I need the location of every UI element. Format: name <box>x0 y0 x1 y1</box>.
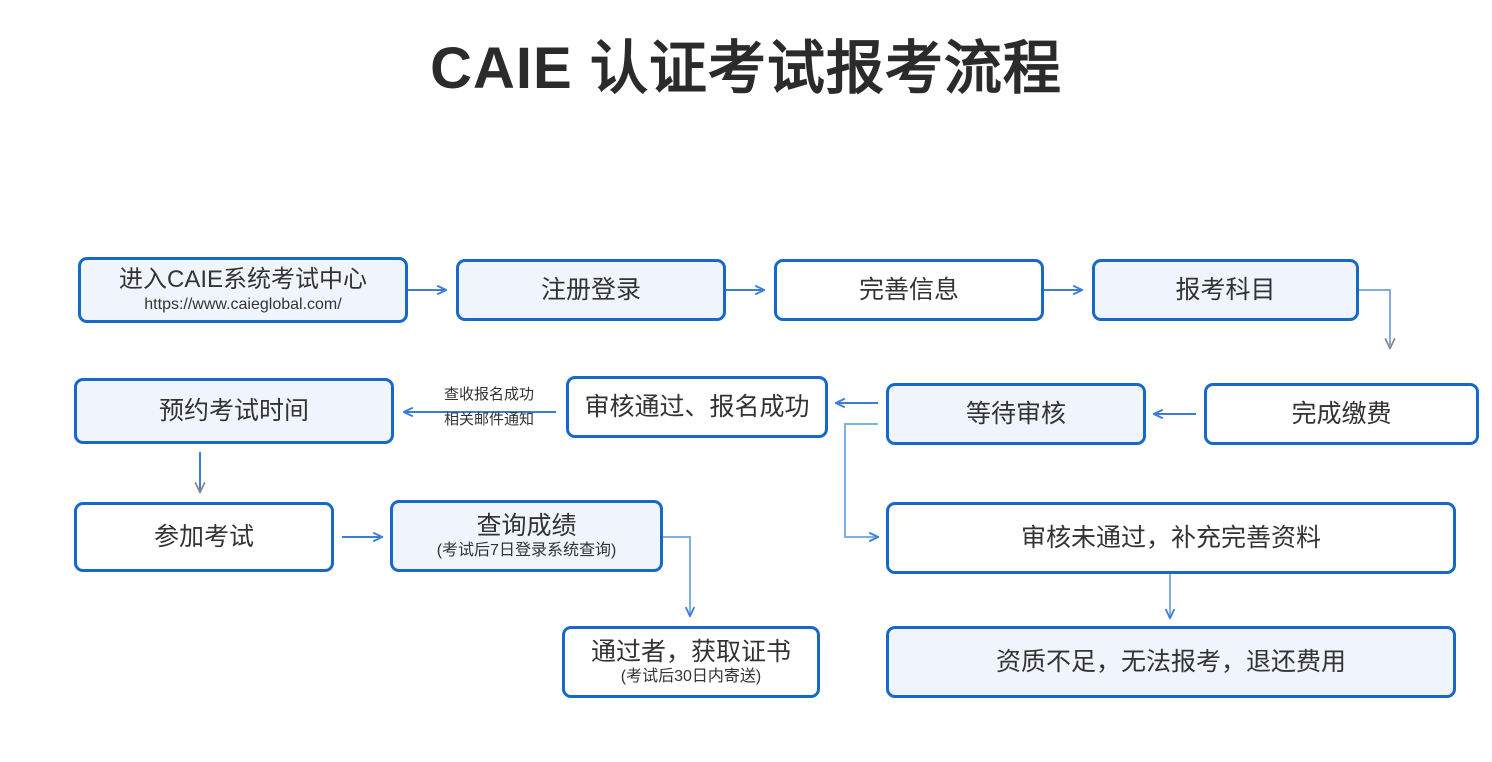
node-review-passed[interactable]: 审核通过、报名成功 <box>566 376 828 438</box>
node-enter-caie-system[interactable]: 进入CAIE系统考试中心 https://www.caieglobal.com/ <box>78 257 408 323</box>
node-title: 资质不足，无法报考，退还费用 <box>996 648 1346 677</box>
node-title: 注册登录 <box>541 276 641 305</box>
node-complete-info[interactable]: 完善信息 <box>774 259 1044 321</box>
node-title: 完善信息 <box>859 276 959 305</box>
edge-label-line2: 相关邮件通知 <box>424 410 554 430</box>
node-title: 预约考试时间 <box>159 397 309 426</box>
node-title: 等待审核 <box>966 400 1066 429</box>
node-title: 审核通过、报名成功 <box>584 393 809 422</box>
node-title: 报考科目 <box>1175 276 1275 305</box>
edge-label-email-notice: 查收报名成功 相关邮件通知 <box>424 385 554 431</box>
node-title: 参加考试 <box>154 523 254 552</box>
node-complete-payment[interactable]: 完成缴费 <box>1204 383 1479 445</box>
edge-n10-n11 <box>663 537 690 616</box>
edge-label-line1: 查收报名成功 <box>424 385 554 405</box>
node-take-exam[interactable]: 参加考试 <box>74 502 334 572</box>
node-title: 完成缴费 <box>1291 400 1391 429</box>
node-book-exam-time[interactable]: 预约考试时间 <box>74 378 394 444</box>
node-waiting-review[interactable]: 等待审核 <box>886 383 1146 445</box>
node-get-certificate[interactable]: 通过者，获取证书 (考试后30日内寄送) <box>562 626 820 698</box>
edge-n4-n5 <box>1359 290 1390 348</box>
node-subtitle: https://www.caieglobal.com/ <box>144 295 341 314</box>
node-register-login[interactable]: 注册登录 <box>456 259 726 321</box>
node-title: 通过者，获取证书 <box>591 638 791 667</box>
node-apply-subject[interactable]: 报考科目 <box>1092 259 1359 321</box>
node-review-failed-supplement[interactable]: 审核未通过，补充完善资料 <box>886 502 1456 574</box>
edge-n6-n12 <box>845 424 878 537</box>
node-check-score[interactable]: 查询成绩 (考试后7日登录系统查询) <box>390 500 663 572</box>
node-title: 进入CAIE系统考试中心 <box>119 266 367 294</box>
node-title: 审核未通过，补充完善资料 <box>1021 524 1321 553</box>
node-not-qualified-refund[interactable]: 资质不足，无法报考，退还费用 <box>886 626 1456 698</box>
node-subtitle: (考试后30日内寄送) <box>621 667 761 686</box>
node-title: 查询成绩 <box>476 512 576 541</box>
node-subtitle: (考试后7日登录系统查询) <box>437 541 617 560</box>
